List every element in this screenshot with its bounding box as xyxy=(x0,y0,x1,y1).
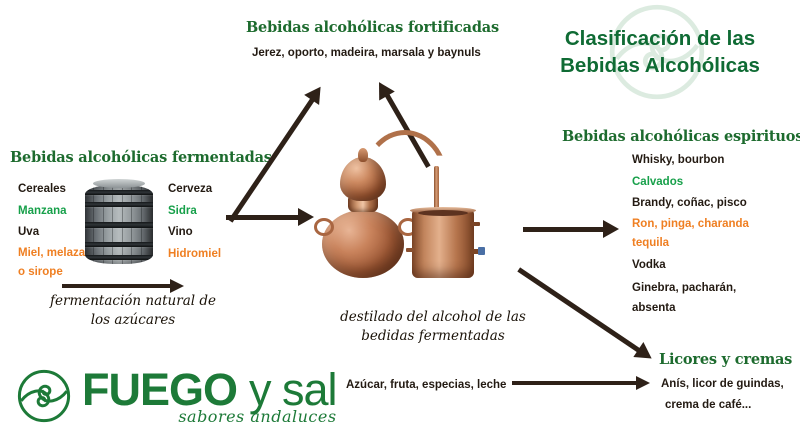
list-item: Calvados xyxy=(632,172,749,194)
brand-logo: FUEGO y sal sabores andaluces xyxy=(14,366,337,426)
caption-fermentation-line-2: los azúcares xyxy=(18,311,248,330)
page-title-line-1: Clasificación de las xyxy=(520,25,800,52)
list-item: Vodka xyxy=(632,253,749,278)
liqueurs-examples-line-1: Anís, licor de guindas, xyxy=(661,374,784,394)
fermented-sources-list: Cereales Manzana Uva Miel, melaza o siro… xyxy=(18,179,85,282)
list-item: absenta xyxy=(632,299,749,318)
list-item: Brandy, coñac, pisco xyxy=(632,193,749,215)
section-heading-fermented: Bebidas alcohólicas fermentadas xyxy=(10,149,272,166)
list-item: Miel, melaza xyxy=(18,244,85,263)
oak-barrel-illustration xyxy=(83,182,155,266)
arrow-ingredients-to-liqueurs xyxy=(512,376,652,390)
list-item: Manzana xyxy=(18,201,85,223)
spirits-list: Whisky, bourbon Calvados Brandy, coñac, … xyxy=(632,150,749,318)
caption-fermentation-line-1: fermentación natural de xyxy=(18,292,248,311)
brand-name-secondary: y sal xyxy=(249,367,337,413)
liqueurs-examples-line-2: crema de café... xyxy=(665,395,751,415)
caption-fermentation: fermentación natural de los azúcares xyxy=(18,292,248,330)
liqueurs-ingredients: Azúcar, fruta, especias, leche xyxy=(346,375,506,395)
list-item: Ginebra, pacharán, xyxy=(632,278,749,299)
list-item: tequila xyxy=(632,234,749,253)
fermented-results-list: Cerveza Sidra Vino Hidromiel xyxy=(168,179,221,265)
list-item: Sidra xyxy=(168,201,221,223)
page-title: Clasificación de las Bebidas Alcohólicas xyxy=(520,25,800,79)
page-title-line-2: Bebidas Alcohólicas xyxy=(520,52,800,79)
section-heading-fortified: Bebidas alcohólicas fortificadas xyxy=(246,19,499,36)
list-item: Uva xyxy=(18,222,85,244)
list-item: Ron, pinga, charanda xyxy=(632,215,749,234)
brand-name-primary: FUEGO xyxy=(82,367,237,413)
list-item: Whisky, bourbon xyxy=(632,150,749,172)
copper-alembic-still-illustration xyxy=(300,122,515,280)
caption-distillation-line-1: destilado del alcohol de las xyxy=(322,308,544,327)
list-item: Cerveza xyxy=(168,179,221,201)
fuego-y-sal-spiral-icon xyxy=(14,366,74,426)
infographic-canvas: Clasificación de las Bebidas Alcohólicas… xyxy=(0,0,800,441)
caption-distillation: destilado del alcohol de las bedidas fer… xyxy=(322,308,544,346)
list-item: Vino xyxy=(168,222,221,244)
section-heading-liqueurs: Licores y cremas xyxy=(659,351,792,368)
section-heading-spirits: Bebidas alcohólicas espirituosas xyxy=(562,128,800,145)
caption-distillation-line-2: bedidas fermentadas xyxy=(322,327,544,346)
fortified-examples: Jerez, oporto, madeira, marsala y baynul… xyxy=(252,43,481,63)
arrow-still-to-spirits xyxy=(523,222,619,236)
list-item: Cereales xyxy=(18,179,85,201)
list-item: Hidromiel xyxy=(168,244,221,266)
